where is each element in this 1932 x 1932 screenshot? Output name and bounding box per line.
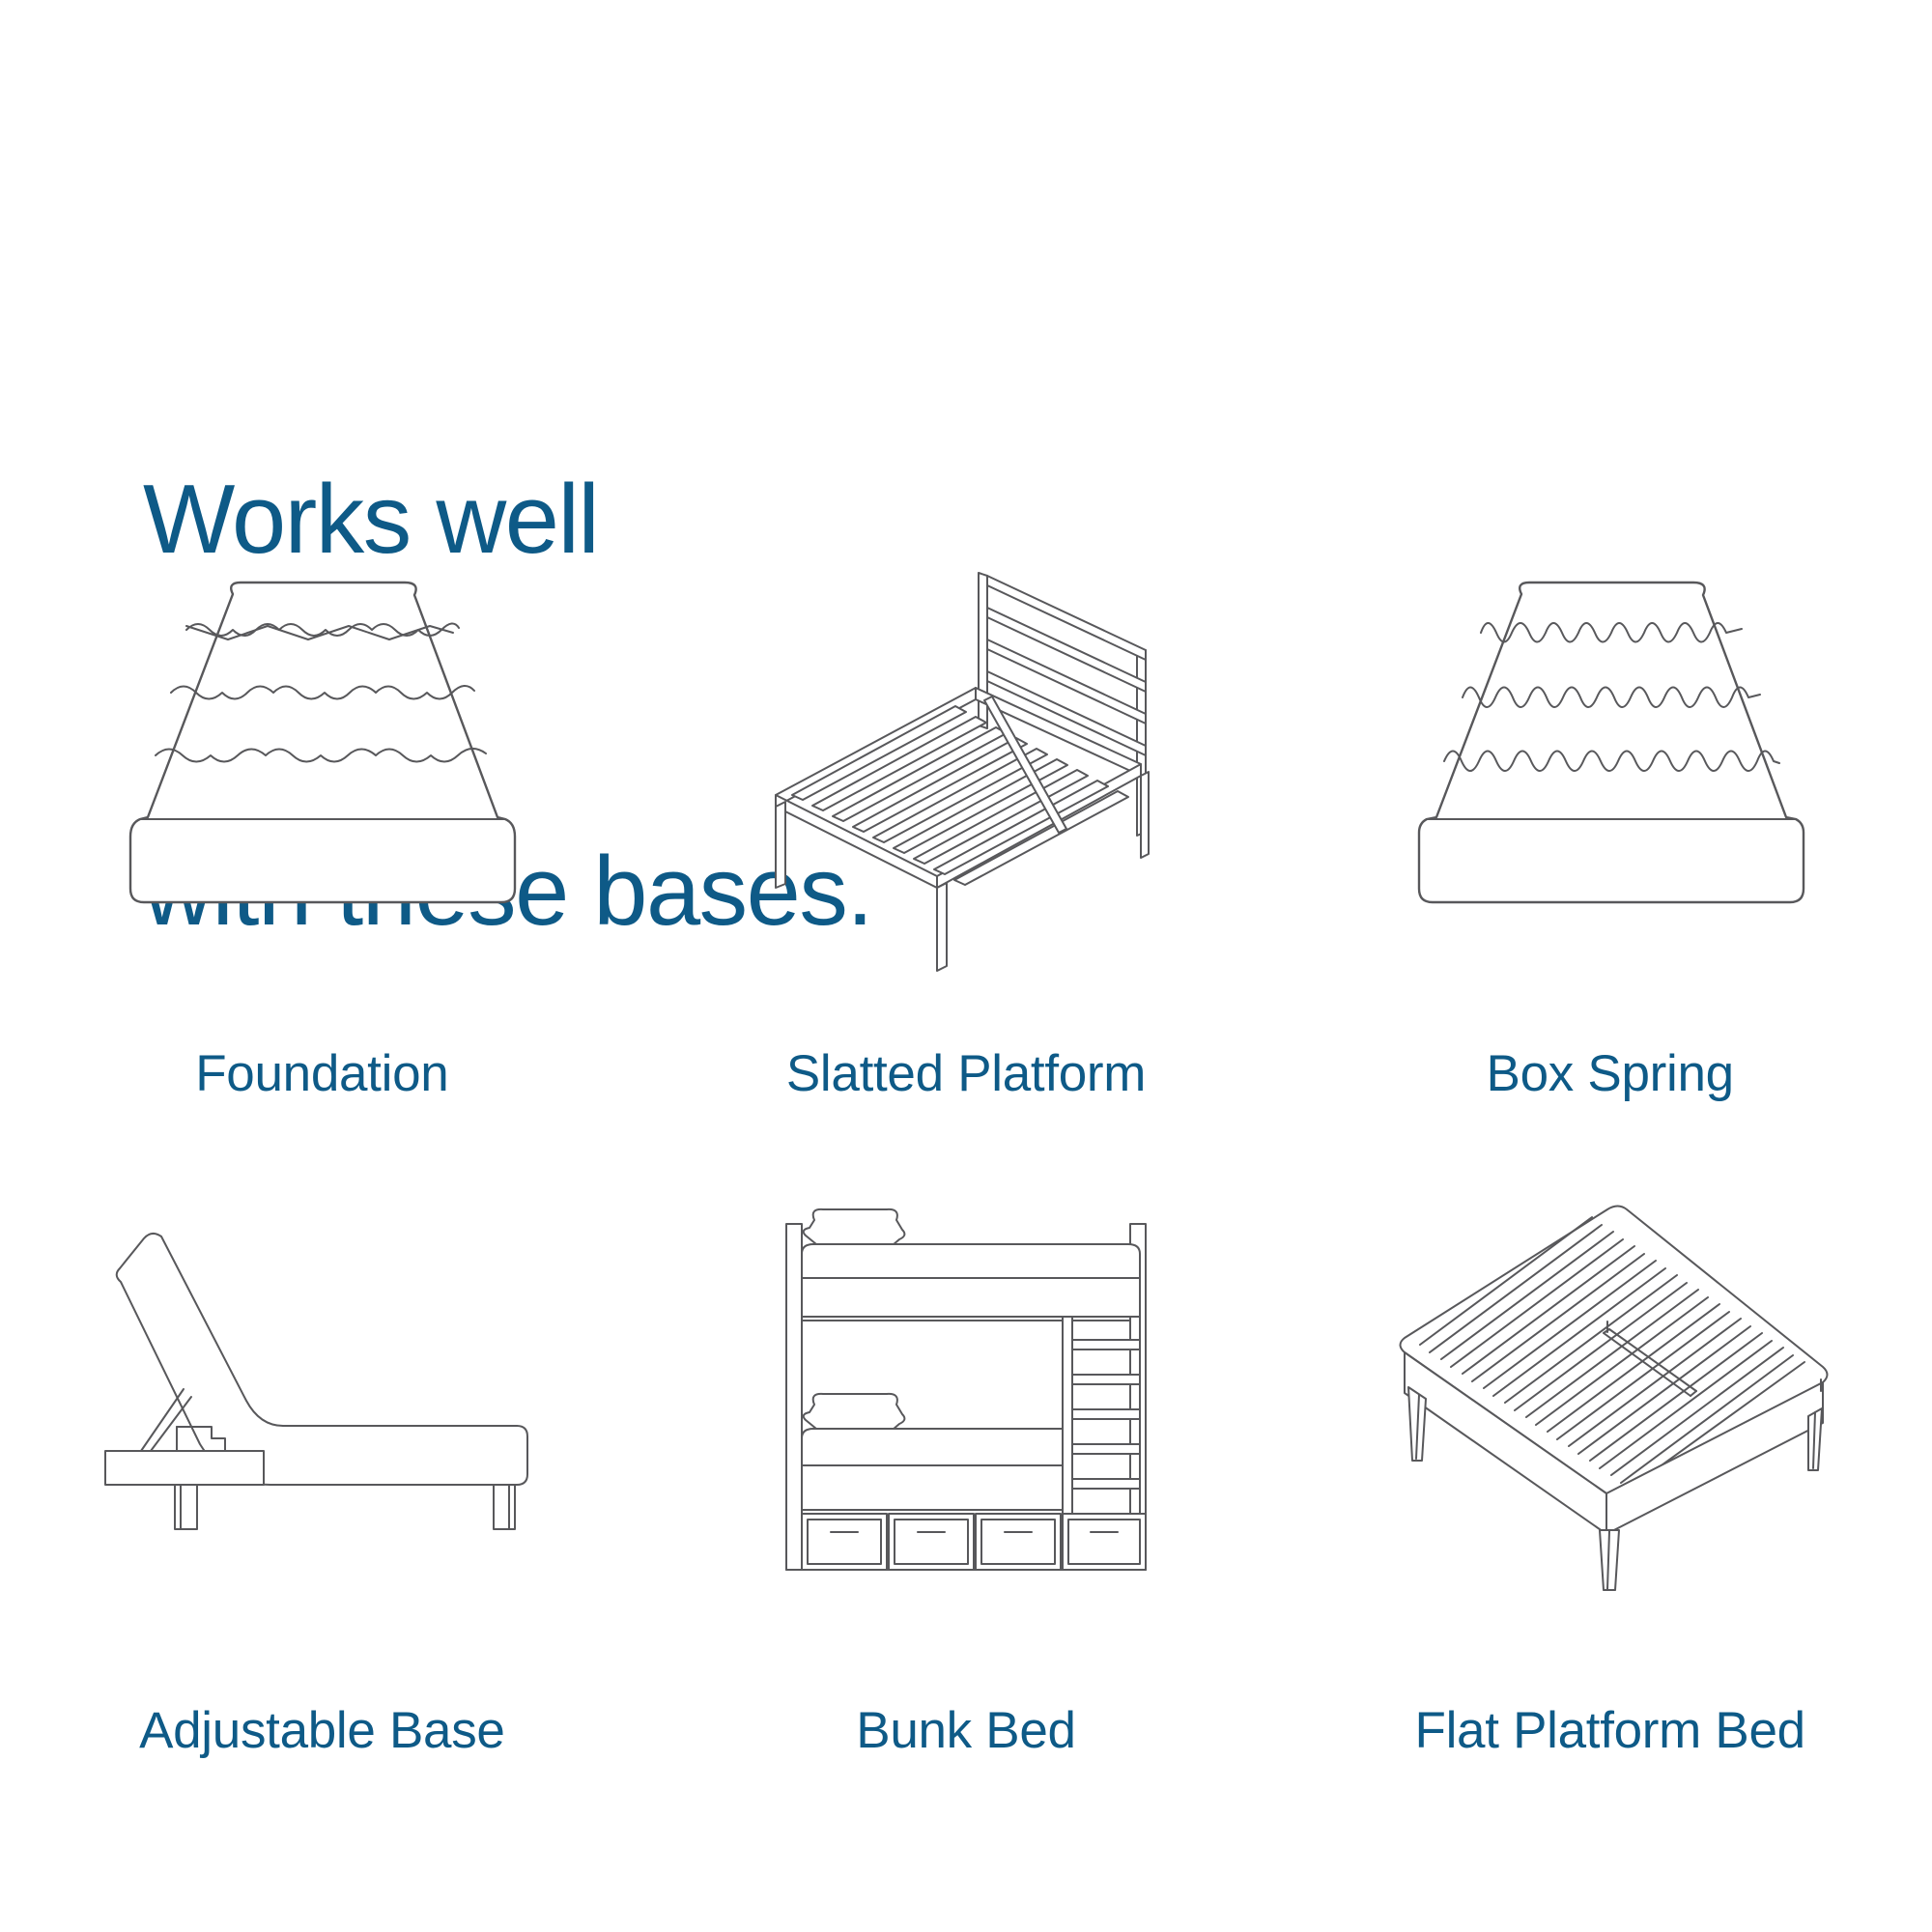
base-label-slatted-platform: Slatted Platform — [786, 1046, 1146, 1102]
base-card-adjustable-base[interactable]: Adjustable Base — [0, 1164, 644, 1860]
box-spring-illustration — [1407, 580, 1813, 927]
foundation-art — [0, 526, 644, 980]
base-card-bunk-bed[interactable]: Bunk Bed — [644, 1164, 1289, 1860]
slatted-platform-art — [644, 526, 1289, 980]
base-card-foundation[interactable]: Foundation — [0, 526, 644, 1164]
foundation-illustration — [119, 580, 525, 927]
base-label-flat-platform-bed: Flat Platform Bed — [1415, 1703, 1805, 1759]
base-card-slatted-platform[interactable]: Slatted Platform — [644, 526, 1289, 1164]
bases-grid: Foundation — [0, 526, 1932, 1860]
base-card-box-spring[interactable]: Box Spring — [1288, 526, 1932, 1164]
base-label-bunk-bed: Bunk Bed — [856, 1703, 1075, 1759]
slatted-platform-bed-illustration — [739, 536, 1193, 971]
base-card-flat-platform-bed[interactable]: Flat Platform Bed — [1288, 1164, 1932, 1860]
flat-platform-bed-illustration — [1383, 1198, 1837, 1613]
adjustable-base-illustration — [99, 1227, 544, 1584]
base-label-box-spring: Box Spring — [1487, 1046, 1734, 1102]
adjustable-base-art — [0, 1164, 644, 1647]
flat-platform-bed-art — [1288, 1164, 1932, 1647]
bases-row-2: Adjustable Base — [0, 1164, 1932, 1860]
base-label-foundation: Foundation — [195, 1046, 448, 1102]
base-label-adjustable-base: Adjustable Base — [139, 1703, 505, 1759]
bases-row-1: Foundation — [0, 526, 1932, 1164]
box-spring-art — [1288, 526, 1932, 980]
bunk-bed-illustration — [773, 1203, 1159, 1608]
infographic-page: Works well with these bases. — [0, 0, 1932, 1932]
bunk-bed-art — [644, 1164, 1289, 1647]
